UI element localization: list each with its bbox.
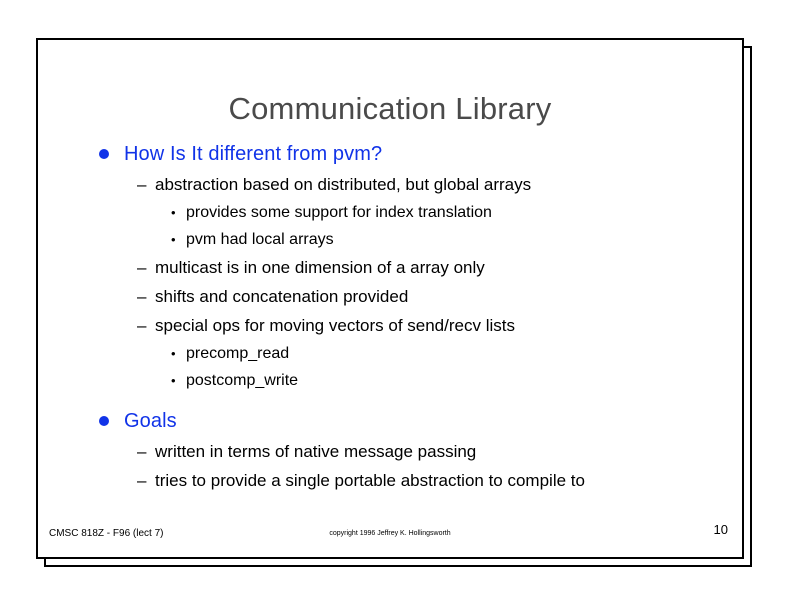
bullet-item-level-2: –shifts and concatenation provided xyxy=(38,282,742,311)
bullet-small-dot-icon: • xyxy=(171,199,176,226)
bullet-text: written in terms of native message passi… xyxy=(155,442,476,461)
bullet-item-level-2: –multicast is in one dimension of a arra… xyxy=(38,253,742,282)
bullet-text: shifts and concatenation provided xyxy=(155,287,408,306)
bullet-dash-icon: – xyxy=(137,466,146,495)
bullet-dash-icon: – xyxy=(137,170,146,199)
bullet-text: How Is It different from pvm? xyxy=(124,143,382,165)
bullet-text: Goals xyxy=(124,410,177,432)
footer-page-number: 10 xyxy=(714,522,728,537)
bullet-item-level-3: •precomp_read xyxy=(38,340,742,367)
bullet-item-level-2: –tries to provide a single portable abst… xyxy=(38,466,742,495)
bullet-item-level-3: •postcomp_write xyxy=(38,367,742,394)
bullet-dot-icon xyxy=(99,416,109,426)
bullet-item-level-2: –abstraction based on distributed, but g… xyxy=(38,170,742,199)
bullet-dash-icon: – xyxy=(137,282,146,311)
bullet-text: tries to provide a single portable abstr… xyxy=(155,471,585,490)
bullet-text: abstraction based on distributed, but gl… xyxy=(155,175,531,194)
bullet-text: provides some support for index translat… xyxy=(186,204,492,221)
bullet-text: multicast is in one dimension of a array… xyxy=(155,258,485,277)
bullet-small-dot-icon: • xyxy=(171,367,176,394)
bullet-text: pvm had local arrays xyxy=(186,231,334,248)
bullet-item-level-1: Goals xyxy=(38,405,742,437)
slide-inner-frame: Communication Library How Is It differen… xyxy=(36,38,744,559)
bullet-item-level-2: –special ops for moving vectors of send/… xyxy=(38,311,742,340)
bullet-text: postcomp_write xyxy=(186,372,298,389)
bullet-item-level-1: How Is It different from pvm? xyxy=(38,138,742,170)
bullet-item-level-3: •pvm had local arrays xyxy=(38,226,742,253)
page-title: Communication Library xyxy=(38,91,742,127)
footer-copyright-label: copyright 1996 Jeffrey K. Hollingsworth xyxy=(38,530,742,537)
bullet-item-level-2: –written in terms of native message pass… xyxy=(38,437,742,466)
bullet-text: special ops for moving vectors of send/r… xyxy=(155,316,515,335)
bullet-dash-icon: – xyxy=(137,311,146,340)
bullet-small-dot-icon: • xyxy=(171,226,176,253)
bullet-list: How Is It different from pvm?–abstractio… xyxy=(38,138,742,495)
bullet-small-dot-icon: • xyxy=(171,340,176,367)
bullet-item-level-3: •provides some support for index transla… xyxy=(38,199,742,226)
bullet-dash-icon: – xyxy=(137,437,146,466)
bullet-text: precomp_read xyxy=(186,345,289,362)
bullet-dot-icon xyxy=(99,149,109,159)
bullet-dash-icon: – xyxy=(137,253,146,282)
